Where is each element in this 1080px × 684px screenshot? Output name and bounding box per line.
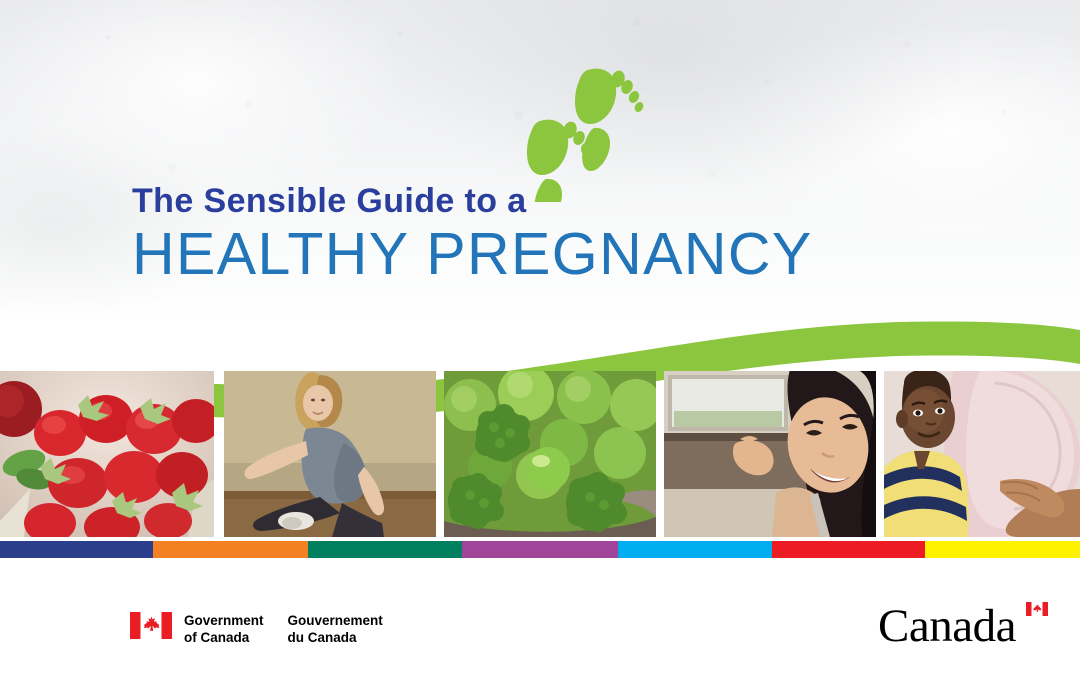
baby-footprints-icon [512,52,652,202]
publication-cover-page: The Sensible Guide to a HEALTHY PREGNANC… [0,0,1080,684]
fip-french-line1: Gouvernement [288,612,383,629]
photo-green-vegetables [444,371,656,537]
bar-dark-blue [0,541,153,558]
photo-child-and-belly [884,371,1080,537]
fip-english: Government of Canada [184,612,264,647]
photo-strawberries [0,371,214,537]
bar-purple [462,541,618,558]
photo-pregnant-stretching [224,371,436,537]
canada-flag-icon [130,612,172,639]
canada-wordmark-flag-icon [1026,602,1048,616]
fip-wordmark-text: Government of Canada Gouvernement du Can… [184,612,383,647]
color-bar-strip [0,541,1080,558]
fip-english-line1: Government [184,612,264,629]
cover-photo-strip [0,371,1080,537]
bar-orange [153,541,308,558]
canada-wordmark: Canada [878,600,1050,652]
government-of-canada-signature: Government of Canada Gouvernement du Can… [130,612,383,647]
bar-teal [308,541,462,558]
bar-red [772,541,925,558]
fip-french: Gouvernement du Canada [288,612,383,647]
bar-yellow [925,541,1080,558]
cover-title: HEALTHY PREGNANCY [132,225,992,284]
cover-subtitle: The Sensible Guide to a [132,184,992,218]
title-block: The Sensible Guide to a HEALTHY PREGNANC… [132,184,992,284]
fip-english-line2: of Canada [184,629,264,646]
photo-smiling-woman [664,371,876,537]
fip-french-line2: du Canada [288,629,383,646]
canada-wordmark-text: Canada [878,600,1050,652]
bar-cyan [618,541,772,558]
